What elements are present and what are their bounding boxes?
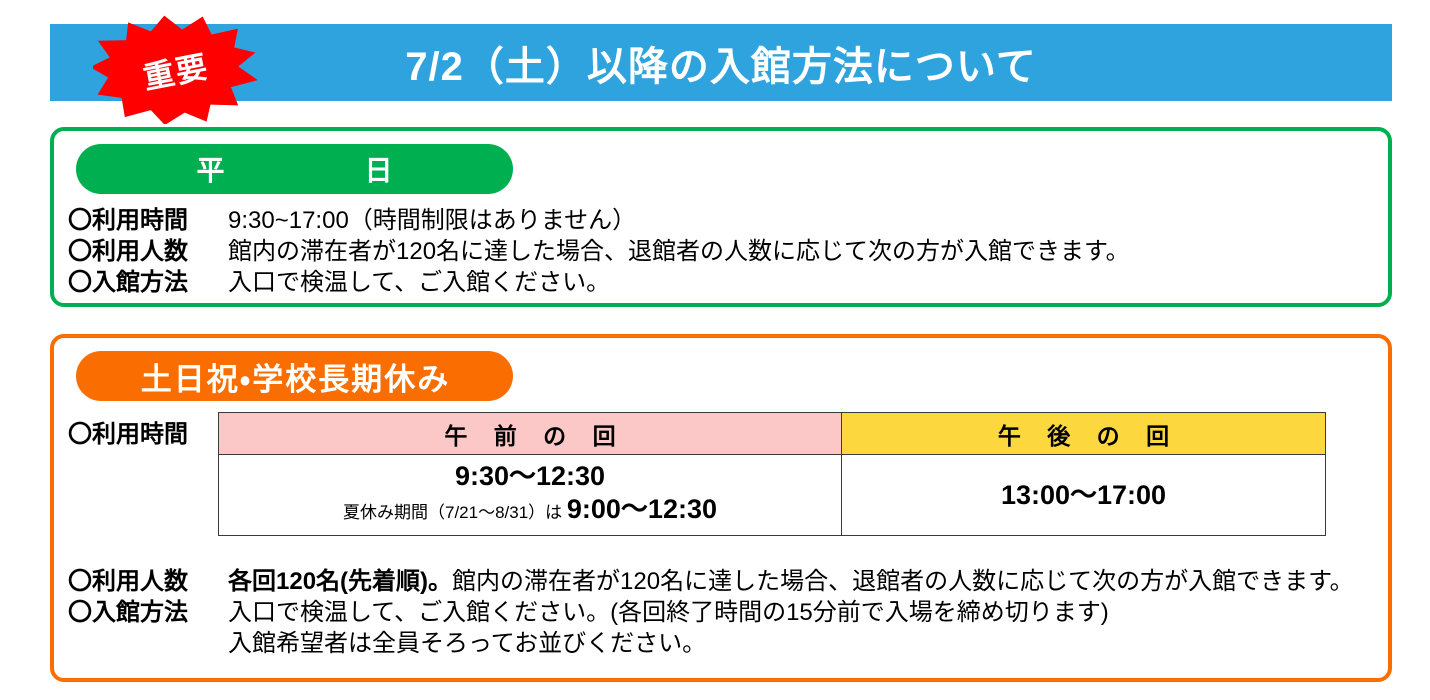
important-starburst-badge: 重要	[93, 14, 258, 124]
afternoon-time-main: 13:00〜17:00	[842, 479, 1325, 511]
weekday-entry-label: 〇入館方法	[68, 267, 228, 298]
morning-time-main: 9:30〜12:30	[219, 460, 841, 492]
weekend-capacity-highlight: 各回120名(先着順)。	[228, 568, 452, 595]
weekday-entry-value: 入口で検温して、ご入館ください。	[228, 267, 610, 298]
weekend-capacity-label: 〇利用人数	[68, 566, 228, 597]
weekend-entry-continuation-row: 入館希望者は全員そろってお並びください。	[68, 628, 1354, 659]
morning-summer-time: 9:00〜12:30	[567, 494, 717, 524]
weekday-hours-value: 9:30~17:00（時間制限はありません）	[228, 205, 636, 236]
weekend-capacity-rest: 館内の滞在者が120名に達した場合、退館者の人数に応じて次の方が入館できます。	[452, 568, 1354, 595]
page-title: 7/2（土）以降の入館方法について	[405, 34, 1036, 92]
table-row: 9:30〜12:30 夏休み期間（7/21〜8/31）は 9:00〜12:30 …	[219, 455, 1326, 536]
weekend-capacity-value: 各回120名(先着順)。館内の滞在者が120名に達した場合、退館者の人数に応じて…	[228, 566, 1354, 597]
weekend-heading-label: 土日祝・学校長期休み	[139, 354, 451, 399]
weekend-entry-value: 入口で検温して、ご入館ください。(各回終了時間の15分前で入場を締め切ります)	[228, 597, 1109, 628]
table-header-morning: 午 前 の 回	[219, 413, 842, 455]
weekend-heading-pill: 土日祝・学校長期休み	[76, 351, 513, 401]
weekday-section: 平 日 〇利用時間 9:30~17:00（時間制限はありません） 〇利用人数 館…	[50, 127, 1392, 307]
weekend-section: 土日祝・学校長期休み 〇利用時間 午 前 の 回 午 後 の 回 9:30〜12…	[50, 334, 1392, 682]
afternoon-session-cell: 13:00〜17:00	[842, 455, 1326, 536]
table-body: 9:30〜12:30 夏休み期間（7/21〜8/31）は 9:00〜12:30 …	[219, 455, 1326, 536]
weekday-capacity-row: 〇利用人数 館内の滞在者が120名に達した場合、退館者の人数に応じて次の方が入館…	[68, 236, 1130, 267]
weekend-entry-label: 〇入館方法	[68, 597, 228, 628]
session-schedule-table: 午 前 の 回 午 後 の 回 9:30〜12:30 夏休み期間（7/21〜8/…	[218, 412, 1326, 536]
weekend-hours-label: 〇利用時間	[68, 414, 188, 449]
weekend-info-list: 〇利用人数 各回120名(先着順)。館内の滞在者が120名に達した場合、退館者の…	[68, 566, 1354, 659]
weekday-entry-row: 〇入館方法 入口で検温して、ご入館ください。	[68, 267, 1130, 298]
weekday-capacity-label: 〇利用人数	[68, 236, 228, 267]
weekend-entry-continuation: 入館希望者は全員そろってお並びください。	[228, 628, 706, 659]
weekday-info-list: 〇利用時間 9:30~17:00（時間制限はありません） 〇利用人数 館内の滞在…	[68, 205, 1130, 298]
weekday-heading-pill: 平 日	[76, 144, 513, 194]
table-head: 午 前 の 回 午 後 の 回	[219, 413, 1326, 455]
starburst-icon	[93, 14, 258, 124]
weekday-heading-label: 平 日	[182, 149, 406, 189]
continuation-spacer	[68, 628, 228, 659]
morning-time-summer: 夏休み期間（7/21〜8/31）は 9:00〜12:30	[219, 492, 841, 530]
weekday-hours-label: 〇利用時間	[68, 205, 228, 236]
morning-session-cell: 9:30〜12:30 夏休み期間（7/21〜8/31）は 9:00〜12:30	[219, 455, 842, 536]
table-header-row: 午 前 の 回 午 後 の 回	[219, 413, 1326, 455]
weekday-hours-row: 〇利用時間 9:30~17:00（時間制限はありません）	[68, 205, 1130, 236]
table-header-afternoon: 午 後 の 回	[842, 413, 1326, 455]
weekday-capacity-value: 館内の滞在者が120名に達した場合、退館者の人数に応じて次の方が入館できます。	[228, 236, 1130, 267]
weekend-entry-row: 〇入館方法 入口で検温して、ご入館ください。(各回終了時間の15分前で入場を締め…	[68, 597, 1354, 628]
weekend-capacity-row: 〇利用人数 各回120名(先着順)。館内の滞在者が120名に達した場合、退館者の…	[68, 566, 1354, 597]
morning-summer-prefix: 夏休み期間（7/21〜8/31）は	[343, 503, 567, 522]
